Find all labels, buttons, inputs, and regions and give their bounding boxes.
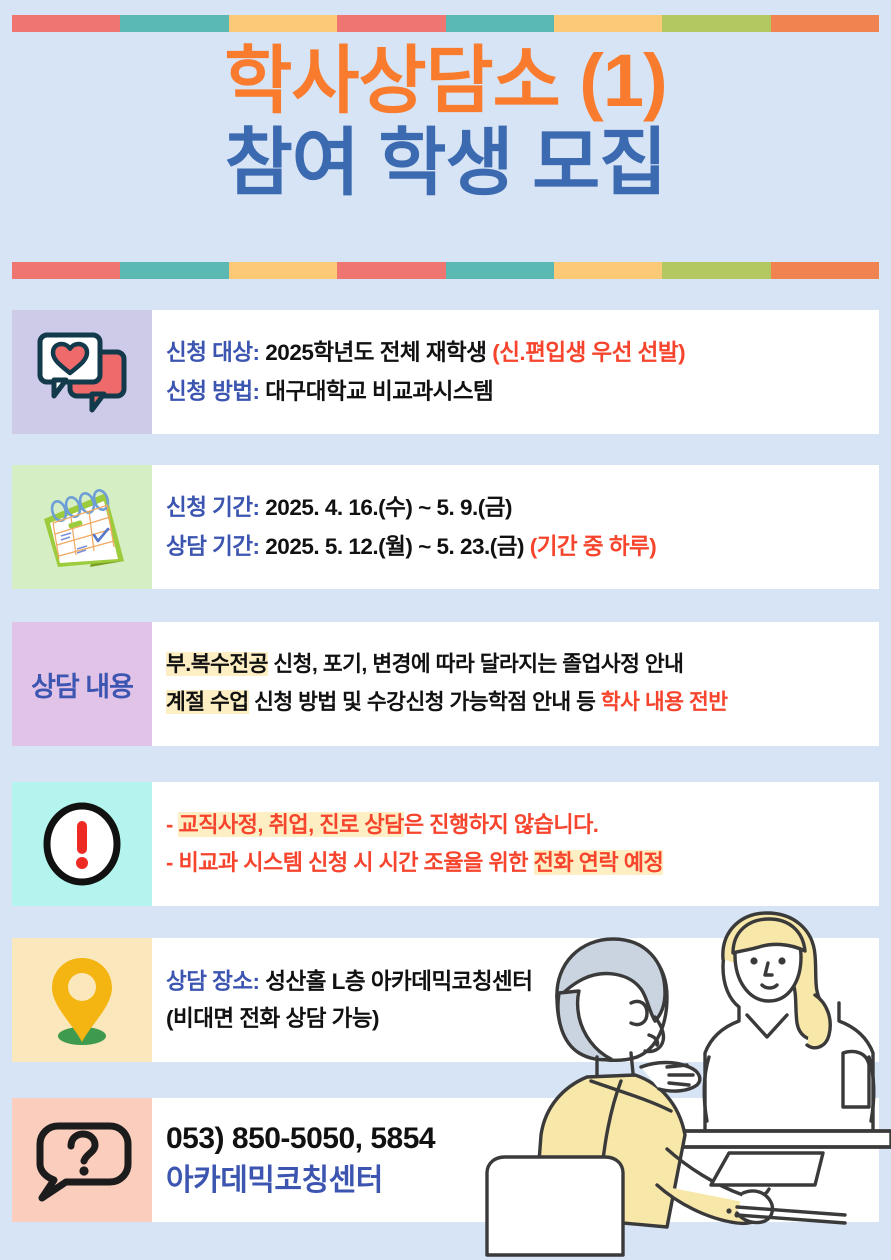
row1-line-1: 신청 대상: 2025학년도 전체 재학생 (신.편입생 우선 선발) bbox=[166, 339, 871, 366]
row4-line2-dash: - bbox=[166, 850, 178, 875]
text-cell-row1: 신청 대상: 2025학년도 전체 재학생 (신.편입생 우선 선발) 신청 방… bbox=[152, 310, 879, 434]
row4-line-1: - 교직사정, 취업, 진로 상담은 진행하지 않습니다. bbox=[166, 812, 871, 838]
text-cell-row2: 신청 기간: 2025. 4. 16.(수) ~ 5. 9.(금) 상담 기간:… bbox=[152, 465, 879, 589]
row2-line-2: 상담 기간: 2025. 5. 12.(월) ~ 5. 23.(금) (기간 중… bbox=[166, 533, 871, 560]
row4-line-2: - 비교과 시스템 신청 시 시간 조율을 위한 전화 연락 예정 bbox=[166, 850, 871, 876]
row5-line1-value: 성산홀 L층 아카데믹코칭센터 bbox=[260, 969, 533, 994]
icon-cell-row2 bbox=[12, 465, 152, 589]
row2-line2-note: (기간 중 하루) bbox=[530, 534, 657, 559]
title-line-1: 학사상담소 (1) bbox=[0, 42, 891, 120]
row1-line2-value: 대구대학교 비교과시스템 bbox=[260, 379, 494, 404]
row5-line-1: 상담 장소: 성산홀 L층 아카데믹코칭센터 bbox=[166, 968, 871, 995]
bar-seg-4 bbox=[337, 15, 445, 32]
row6-center-name: 아카데믹코칭센터 bbox=[166, 1163, 871, 1199]
row3-category-label: 상담 내용 bbox=[31, 665, 133, 704]
bar-seg-6 bbox=[554, 15, 662, 32]
speech-bubbles-heart-icon bbox=[34, 330, 130, 414]
bar2-seg-7 bbox=[662, 262, 770, 279]
bar-seg-2 bbox=[120, 15, 228, 32]
row6-phone: 053) 850-5050, 5854 bbox=[166, 1121, 871, 1157]
icon-cell-row4 bbox=[12, 782, 152, 906]
row4-line1-highlight: 교직사정, 취업, 진로 상담 bbox=[178, 812, 403, 837]
row2-line1-label: 신청 기간: bbox=[166, 495, 260, 520]
row3-line1-highlight: 부.복수전공 bbox=[166, 652, 268, 676]
row2-line-1: 신청 기간: 2025. 4. 16.(수) ~ 5. 9.(금) bbox=[166, 494, 871, 521]
row3-line2-rest: 신청 방법 및 수강신청 가능학점 안내 등 bbox=[249, 690, 601, 714]
icon-cell-row3: 상담 내용 bbox=[12, 622, 152, 746]
text-cell-row6: 053) 850-5050, 5854 아카데믹코칭센터 bbox=[152, 1098, 879, 1222]
info-row-location: 상담 장소: 성산홀 L층 아카데믹코칭센터 (비대면 전화 상담 가능) bbox=[12, 938, 879, 1062]
bar-seg-8 bbox=[771, 15, 879, 32]
title-line-2: 참여 학생 모집 bbox=[0, 124, 891, 202]
poster-root: 학사상담소 (1) 참여 학생 모집 신청 대상: 2025학년도 전체 재학생… bbox=[0, 0, 891, 1260]
icon-cell-row6 bbox=[12, 1098, 152, 1222]
row2-line1-value: 2025. 4. 16.(수) ~ 5. 9.(금) bbox=[260, 495, 512, 520]
info-row-content: 상담 내용 부.복수전공 신청, 포기, 변경에 따라 달라지는 졸업사정 안내… bbox=[12, 622, 879, 746]
row3-line2-note: 학사 내용 전반 bbox=[601, 690, 728, 714]
location-pin-icon bbox=[45, 952, 119, 1048]
icon-cell-row5 bbox=[12, 938, 152, 1062]
text-cell-row5: 상담 장소: 성산홀 L층 아카데믹코칭센터 (비대면 전화 상담 가능) bbox=[152, 938, 879, 1062]
bar2-seg-1 bbox=[12, 262, 120, 279]
exclamation-circle-icon bbox=[39, 801, 125, 887]
row4-line1-dash: - bbox=[166, 812, 178, 837]
row1-line-2: 신청 방법: 대구대학교 비교과시스템 bbox=[166, 378, 871, 405]
top-color-bar bbox=[12, 15, 879, 32]
row2-line2-value: 2025. 5. 12.(월) ~ 5. 23.(금) bbox=[260, 534, 530, 559]
row3-line-2: 계절 수업 신청 방법 및 수강신청 가능학점 안내 등 학사 내용 전반 bbox=[166, 690, 871, 716]
desk-calendar-icon bbox=[28, 479, 136, 575]
row3-line-1: 부.복수전공 신청, 포기, 변경에 따라 달라지는 졸업사정 안내 bbox=[166, 652, 871, 678]
bar2-seg-8 bbox=[771, 262, 879, 279]
row1-line1-note: (신.편입생 우선 선발) bbox=[492, 340, 685, 365]
row4-line2-rest: 비교과 시스템 신청 시 시간 조율을 위한 bbox=[178, 850, 533, 875]
bottom-color-bar bbox=[12, 262, 879, 279]
row1-line2-label: 신청 방법: bbox=[166, 379, 260, 404]
row4-line1-rest: 은 진행하지 않습니다. bbox=[404, 812, 599, 837]
icon-cell-row1 bbox=[12, 310, 152, 434]
poster-title: 학사상담소 (1) 참여 학생 모집 bbox=[0, 42, 891, 203]
bar2-seg-4 bbox=[337, 262, 445, 279]
row5-line1-label: 상담 장소: bbox=[166, 969, 260, 994]
info-row-contact: 053) 850-5050, 5854 아카데믹코칭센터 bbox=[12, 1098, 879, 1222]
bar-seg-3 bbox=[229, 15, 337, 32]
row2-line2-label: 상담 기간: bbox=[166, 534, 260, 559]
row1-line1-value: 2025학년도 전체 재학생 bbox=[260, 340, 493, 365]
bar2-seg-5 bbox=[446, 262, 554, 279]
bar2-seg-2 bbox=[120, 262, 228, 279]
question-speech-bubble-icon bbox=[30, 1116, 134, 1204]
bar2-seg-3 bbox=[229, 262, 337, 279]
info-row-notice: - 교직사정, 취업, 진로 상담은 진행하지 않습니다. - 비교과 시스템 … bbox=[12, 782, 879, 906]
row3-line2-highlight: 계절 수업 bbox=[166, 690, 249, 714]
text-cell-row3: 부.복수전공 신청, 포기, 변경에 따라 달라지는 졸업사정 안내 계절 수업… bbox=[152, 622, 879, 746]
bar2-seg-6 bbox=[554, 262, 662, 279]
bar-seg-5 bbox=[446, 15, 554, 32]
bar-seg-7 bbox=[662, 15, 770, 32]
row4-line2-highlight: 전화 연락 예정 bbox=[534, 850, 664, 875]
info-row-period: 신청 기간: 2025. 4. 16.(수) ~ 5. 9.(금) 상담 기간:… bbox=[12, 465, 879, 589]
bar-seg-1 bbox=[12, 15, 120, 32]
row3-line1-rest: 신청, 포기, 변경에 따라 달라지는 졸업사정 안내 bbox=[268, 652, 684, 676]
row1-line1-label: 신청 대상: bbox=[166, 340, 260, 365]
row5-line-2: (비대면 전화 상담 가능) bbox=[166, 1005, 871, 1032]
info-row-application: 신청 대상: 2025학년도 전체 재학생 (신.편입생 우선 선발) 신청 방… bbox=[12, 310, 879, 434]
text-cell-row4: - 교직사정, 취업, 진로 상담은 진행하지 않습니다. - 비교과 시스템 … bbox=[152, 782, 879, 906]
